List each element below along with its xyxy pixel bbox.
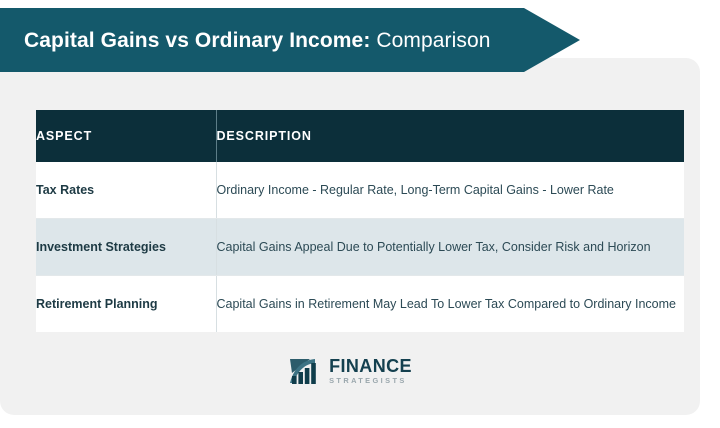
cell-description: Capital Gains in Retirement May Lead To … [216, 276, 684, 333]
header-banner: Capital Gains vs Ordinary Income: Compar… [0, 8, 580, 72]
cell-aspect: Investment Strategies [36, 219, 216, 276]
page-title: Capital Gains vs Ordinary Income: Compar… [0, 30, 491, 51]
comparison-table: ASPECT DESCRIPTION Tax Rates Ordinary In… [36, 110, 684, 332]
page-title-light: Comparison [370, 29, 490, 52]
table-body: Tax Rates Ordinary Income - Regular Rate… [36, 162, 684, 332]
column-header-aspect: ASPECT [36, 110, 216, 162]
bar-chart-logo-icon [288, 356, 322, 386]
logo-brand-tagline: STRATEGISTS [329, 377, 412, 384]
table-row: Retirement Planning Capital Gains in Ret… [36, 276, 684, 333]
table-row: Investment Strategies Capital Gains Appe… [36, 219, 684, 276]
cell-aspect: Retirement Planning [36, 276, 216, 333]
cell-description: Ordinary Income - Regular Rate, Long-Ter… [216, 162, 684, 219]
table-header: ASPECT DESCRIPTION [36, 110, 684, 162]
cell-description: Capital Gains Appeal Due to Potentially … [216, 219, 684, 276]
cell-aspect: Tax Rates [36, 162, 216, 219]
logo-brand-name: FINANCE [329, 357, 412, 375]
brand-logo: FINANCE STRATEGISTS [0, 356, 700, 386]
logo-wordmark: FINANCE STRATEGISTS [329, 357, 412, 384]
table-header-row: ASPECT DESCRIPTION [36, 110, 684, 162]
page-title-bold: Capital Gains vs Ordinary Income: [24, 29, 370, 52]
column-header-description: DESCRIPTION [216, 110, 684, 162]
table-row: Tax Rates Ordinary Income - Regular Rate… [36, 162, 684, 219]
